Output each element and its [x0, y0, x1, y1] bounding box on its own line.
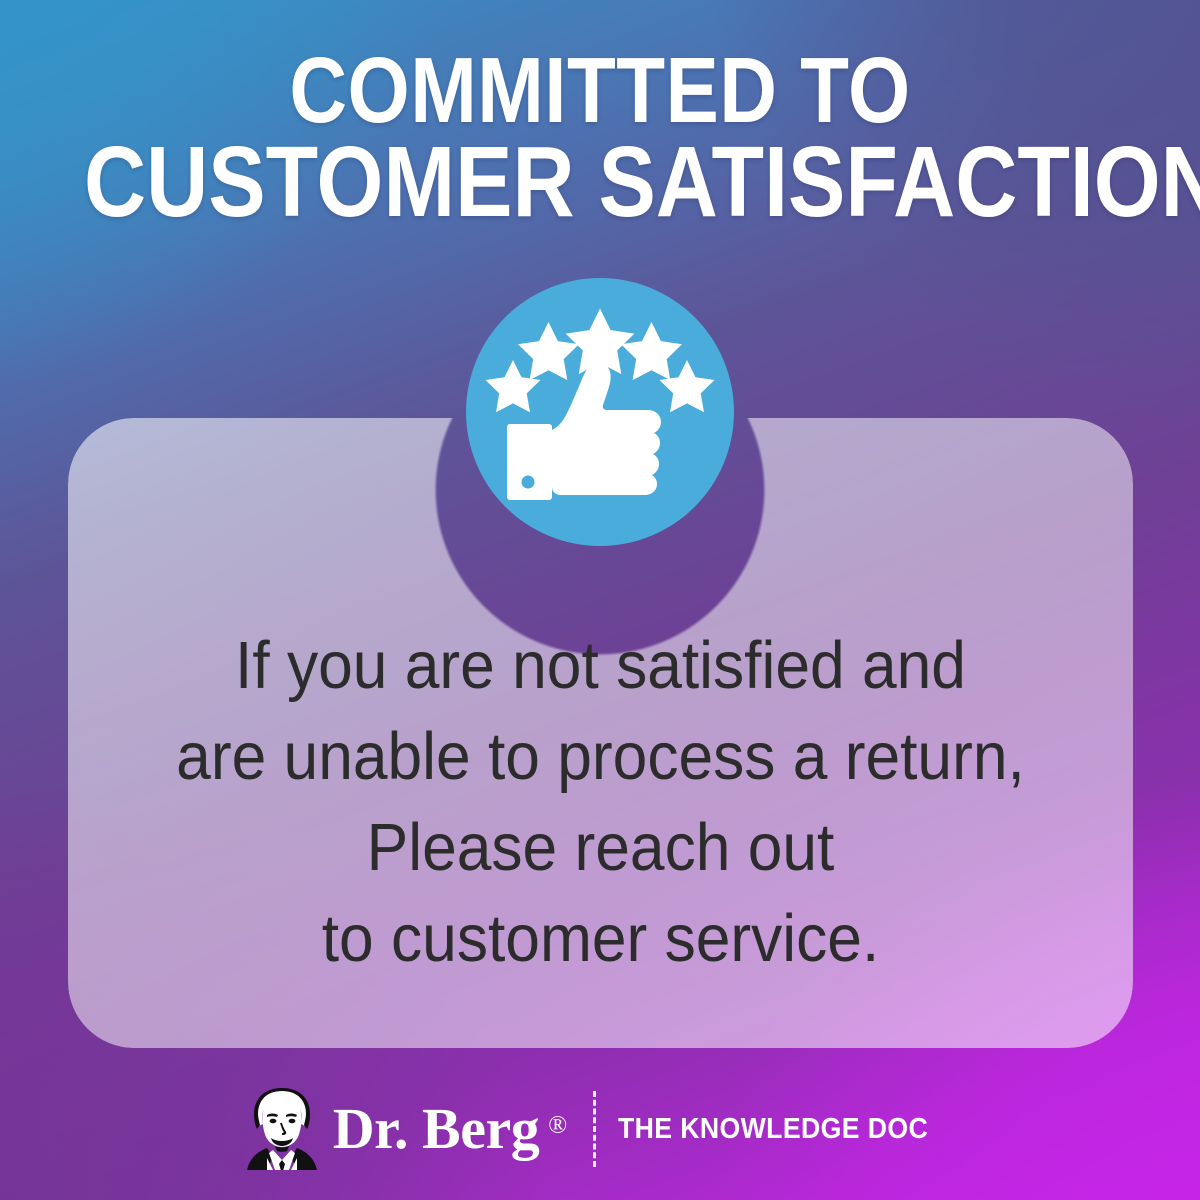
message-line-1: If you are not satisfied and	[105, 620, 1095, 711]
message-text: If you are not satisfied and are unable …	[105, 620, 1095, 984]
page-title: COMMITTED TO CUSTOMER SATISFACTION	[84, 44, 1116, 228]
headline-line-1: COMMITTED TO	[84, 44, 1116, 136]
headline-line-2: CUSTOMER SATISFACTION	[84, 136, 1116, 228]
message-line-2: are unable to process a return,	[105, 711, 1095, 802]
promotional-poster: COMMITTED TO CUSTOMER SATISFACTION	[0, 0, 1200, 1200]
thumbs-up-five-stars-icon	[466, 278, 734, 546]
message-line-3: Please reach out	[105, 802, 1095, 893]
brand-tagline: THE KNOWLEDGE DOC	[618, 1113, 928, 1146]
satisfaction-badge	[466, 278, 734, 546]
footer-divider	[593, 1091, 596, 1167]
dr-berg-portrait-logo-icon	[245, 1088, 319, 1170]
message-line-4: to customer service.	[105, 893, 1095, 984]
brand-footer: Dr. Berg ® THE KNOWLEDGE DOC	[0, 1086, 1200, 1172]
registered-trademark-icon: ®	[548, 1113, 567, 1138]
brand-name: Dr. Berg	[333, 1099, 539, 1159]
